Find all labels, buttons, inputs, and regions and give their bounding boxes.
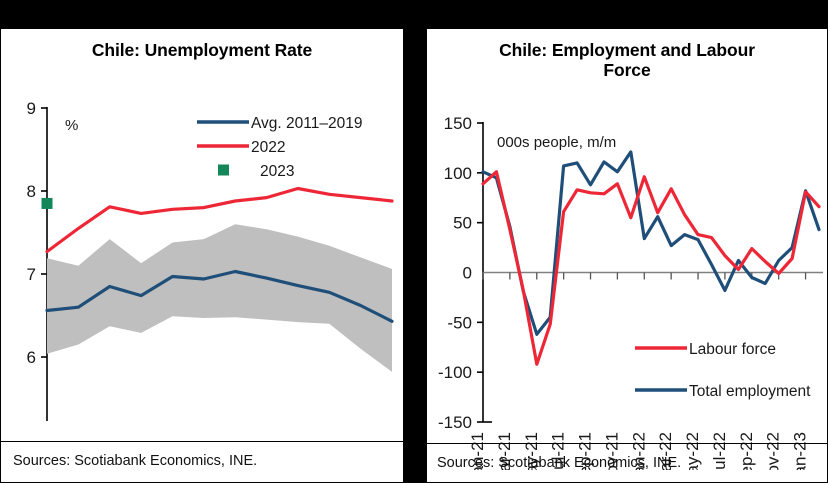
series-line-labour-force (483, 172, 819, 364)
legend-label: Avg. 2011–2019 (251, 115, 362, 132)
source-note-right: Sources: Scotiabank Economics, INE. (437, 455, 681, 471)
legend-left: Avg. 2011–201920222023 (197, 115, 362, 180)
y-tick-label: 7 (27, 265, 36, 284)
y-tick-label: 9 (27, 99, 36, 118)
x-tick-label: Jul-22 (710, 432, 729, 470)
chart-title-employment: Chile: Employment and Labour Force (427, 29, 827, 80)
legend-right: Labour forceTotal employment (635, 341, 811, 400)
source-separator-right (427, 443, 827, 444)
axes-group-right: -150-100-50050100150Jan-21Mar-21May-21Ju… (438, 114, 823, 470)
source-note-left: Sources: Scotiabank Economics, INE. (13, 453, 257, 469)
legend-swatch-marker (218, 164, 229, 175)
chart-panel-unemployment: Chile: Unemployment Rate 56789JanMarMayJ… (0, 28, 404, 483)
chart-title-line-2: Force (427, 61, 827, 81)
plot-area-employment: -150-100-50050100150Jan-21Mar-21May-21Ju… (427, 80, 827, 475)
y-tick-label: -150 (438, 413, 472, 432)
source-separator-left (1, 441, 403, 442)
y-tick-label: 6 (27, 348, 36, 367)
chart-title-line-1: Chile: Employment and Labour (427, 41, 827, 61)
chart-panel-employment: Chile: Employment and Labour Force -150-… (426, 28, 828, 483)
y-tick-label: 100 (444, 164, 472, 183)
x-tick-label: Jan-23 (791, 432, 810, 470)
y-tick-label: -100 (438, 363, 472, 382)
y-tick-label: 50 (453, 214, 472, 233)
employment-svg: -150-100-50050100150Jan-21Mar-21May-21Ju… (427, 80, 827, 470)
legend-label: Total employment (689, 383, 811, 400)
y-tick-label: 150 (444, 114, 472, 133)
x-tick-label: May-22 (683, 432, 702, 470)
unemployment-svg: 56789JanMarMayJulSepNov%Avg. 2011–201920… (1, 61, 403, 421)
legend-label: 2022 (251, 139, 285, 156)
figure-stage: Chile: Unemployment Rate 56789JanMarMayJ… (0, 0, 828, 483)
x-tick-label: Sep-22 (737, 432, 756, 470)
plot-area-unemployment: 56789JanMarMayJulSepNov%Avg. 2011–201920… (1, 61, 403, 426)
y-tick-label: -50 (447, 314, 472, 333)
unit-note-right: 000s people, m/m (497, 134, 616, 151)
y-tick-label: 8 (27, 182, 36, 201)
series-line-total-employment (483, 152, 819, 334)
unit-note-left: % (65, 117, 78, 134)
x-tick-label: Nov-22 (764, 432, 783, 470)
legend-label: Labour force (689, 341, 776, 358)
y-tick-label: 0 (463, 264, 472, 283)
series-marker-2023 (42, 198, 53, 209)
chart-title-unemployment: Chile: Unemployment Rate (1, 29, 403, 61)
legend-label: 2023 (260, 163, 294, 180)
